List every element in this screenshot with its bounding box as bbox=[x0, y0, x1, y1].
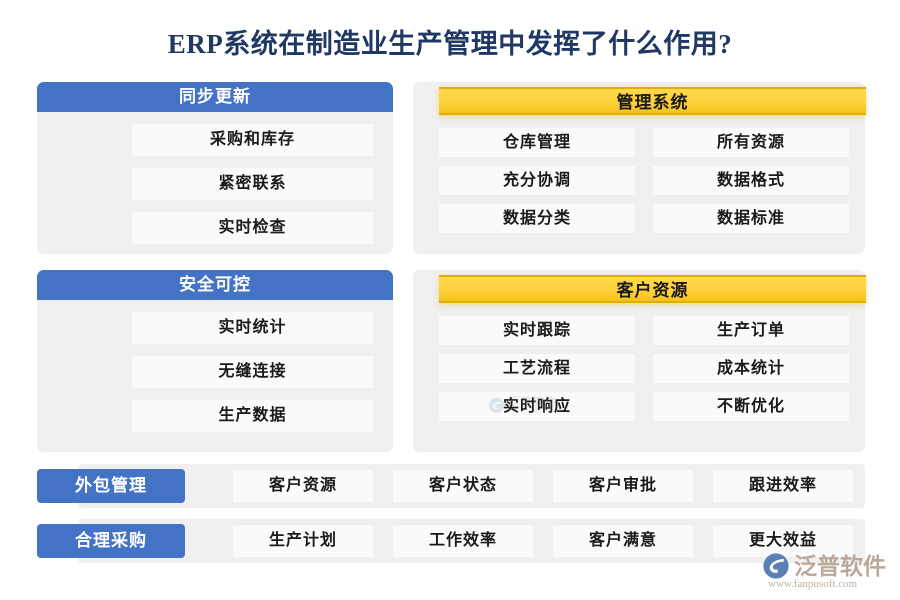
list-item[interactable]: 生产订单 bbox=[653, 316, 849, 345]
list-item[interactable]: 不断优化 bbox=[653, 392, 849, 421]
infographic-canvas: ERP系统在制造业生产管理中发挥了什么作用? 同步更新 采购和库存 紧密联系 实… bbox=[0, 0, 900, 600]
strip-outsourcing-management: 外包管理 客户资源 客户状态 客户审批 跟进效率 bbox=[37, 464, 865, 508]
list-item[interactable]: 实时检查 bbox=[132, 212, 373, 244]
page-title: ERP系统在制造业生产管理中发挥了什么作用? bbox=[0, 22, 900, 61]
panel-management-system: 管理系统 仓库管理 所有资源 充分协调 数据格式 数据分类 数据标准 bbox=[413, 82, 865, 254]
list-item[interactable]: 数据分类 bbox=[439, 204, 635, 233]
fanpu-swoosh-icon bbox=[762, 552, 790, 580]
list-item[interactable]: 紧密联系 bbox=[132, 168, 373, 200]
list-item[interactable]: 工作效率 bbox=[393, 525, 533, 557]
list-item[interactable]: 实时统计 bbox=[132, 312, 373, 344]
panel-header-customer-resource: 客户资源 bbox=[439, 275, 866, 303]
brand-logo: 泛普软件 bbox=[762, 552, 886, 580]
panel-items-customer-resource: 实时跟踪 生产订单 工艺流程 成本统计 实时响应 不断优化 bbox=[439, 316, 849, 421]
list-item[interactable]: 仓库管理 bbox=[439, 128, 635, 157]
list-item[interactable]: 无缝连接 bbox=[132, 356, 373, 388]
strip-label-reasonable-procurement[interactable]: 合理采购 bbox=[37, 524, 185, 558]
list-item[interactable]: 数据格式 bbox=[653, 166, 849, 195]
list-item[interactable]: 工艺流程 bbox=[439, 354, 635, 383]
panel-sync-update: 同步更新 采购和库存 紧密联系 实时检查 bbox=[37, 82, 393, 254]
panel-items-sync-update: 采购和库存 紧密联系 实时检查 bbox=[132, 124, 373, 256]
list-item[interactable]: 数据标准 bbox=[653, 204, 849, 233]
panel-safe-controllable: 安全可控 实时统计 无缝连接 生产数据 bbox=[37, 270, 393, 452]
panel-items-safe-controllable: 实时统计 无缝连接 生产数据 bbox=[132, 312, 373, 444]
strip-items-outsourcing-management: 客户资源 客户状态 客户审批 跟进效率 bbox=[233, 470, 853, 502]
panel-header-management-system: 管理系统 bbox=[439, 87, 866, 115]
brand-logo-text: 泛普软件 bbox=[794, 555, 886, 578]
panel-customer-resource: 客户资源 实时跟踪 生产订单 工艺流程 成本统计 实时响应 不断优化 bbox=[413, 270, 865, 452]
panel-items-management-system: 仓库管理 所有资源 充分协调 数据格式 数据分类 数据标准 bbox=[439, 128, 849, 233]
list-item[interactable]: 成本统计 bbox=[653, 354, 849, 383]
strip-items-reasonable-procurement: 生产计划 工作效率 客户满意 更大效益 bbox=[233, 525, 853, 557]
list-item[interactable]: 生产数据 bbox=[132, 400, 373, 432]
strip-reasonable-procurement: 合理采购 生产计划 工作效率 客户满意 更大效益 bbox=[37, 519, 865, 563]
list-item[interactable]: 实时响应 bbox=[439, 392, 635, 421]
list-item[interactable]: 跟进效率 bbox=[713, 470, 853, 502]
panel-header-sync-update: 同步更新 bbox=[37, 82, 393, 112]
list-item[interactable]: 客户资源 bbox=[233, 470, 373, 502]
brand-logo-url: www.fanpusoft.com bbox=[768, 578, 857, 590]
list-item[interactable]: 客户审批 bbox=[553, 470, 693, 502]
list-item[interactable]: 客户满意 bbox=[553, 525, 693, 557]
list-item[interactable]: 实时跟踪 bbox=[439, 316, 635, 345]
panel-grid: 同步更新 采购和库存 紧密联系 实时检查 管理系统 仓库管理 所有资源 充分协调… bbox=[37, 82, 865, 452]
list-item[interactable]: 生产计划 bbox=[233, 525, 373, 557]
list-item[interactable]: 采购和库存 bbox=[132, 124, 373, 156]
list-item[interactable]: 充分协调 bbox=[439, 166, 635, 195]
list-item[interactable]: 所有资源 bbox=[653, 128, 849, 157]
strip-label-outsourcing-management[interactable]: 外包管理 bbox=[37, 469, 185, 503]
panel-header-safe-controllable: 安全可控 bbox=[37, 270, 393, 300]
list-item[interactable]: 客户状态 bbox=[393, 470, 533, 502]
